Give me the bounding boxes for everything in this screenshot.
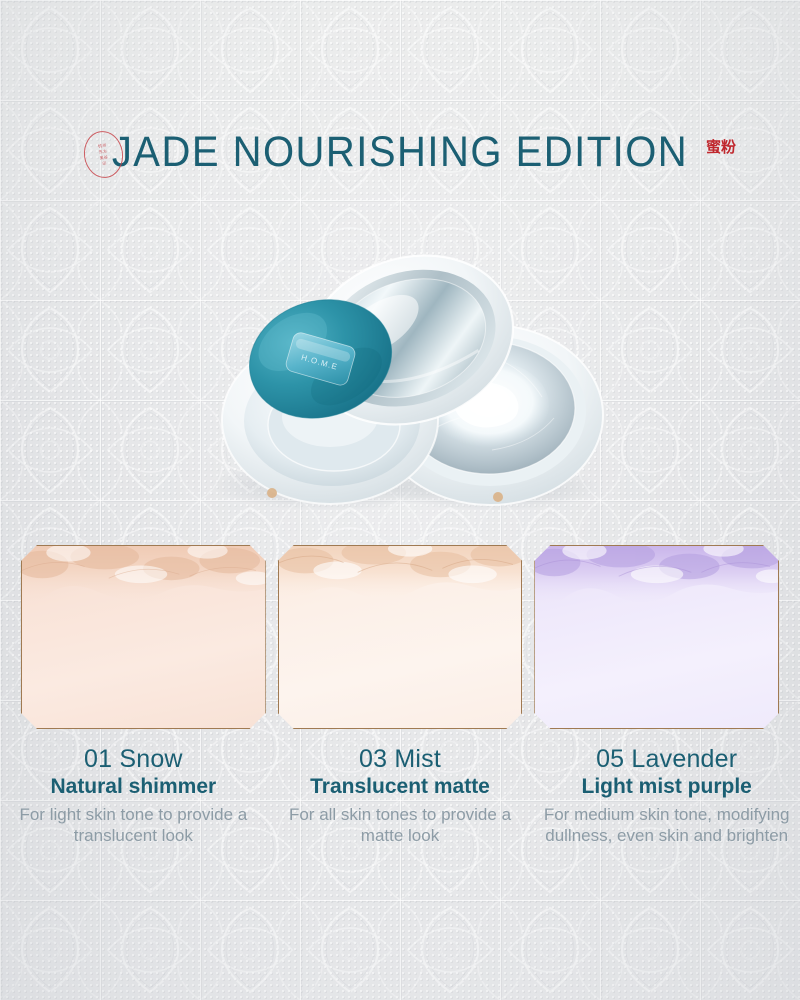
shade-subtitle-01: Natural shimmer (6, 774, 261, 800)
product-image: H.O.M.E (180, 235, 620, 525)
shade-description-03: For all skin tones to provide a matte lo… (273, 804, 528, 846)
swatch-05-lavender[interactable] (534, 545, 779, 729)
shade-caption-03: 03 Mist Translucent matte For all skin t… (267, 744, 534, 846)
shade-subtitle-05: Light mist purple (539, 774, 794, 800)
shade-caption-05: 05 Lavender Light mist purple For medium… (533, 744, 800, 846)
swatch-powder-texture-01 (21, 545, 266, 633)
shade-name-03: 03 Mist (273, 744, 528, 774)
shade-subtitle-03: Translucent matte (273, 774, 528, 800)
swatch-01-snow[interactable] (21, 545, 266, 729)
chinese-product-mark: 蜜粉 (706, 140, 736, 155)
swatch-powder-texture-03 (278, 545, 523, 633)
shade-caption-01: 01 Snow Natural shimmer For light skin t… (0, 744, 267, 846)
shade-name-05: 05 Lavender (539, 744, 794, 774)
swatch-powder-texture-05 (534, 545, 779, 633)
product-detail-page: JADE NOURISHING EDITION 杭州 东方 美谷 印 蜜粉 (0, 0, 800, 1000)
shade-name-01: 01 Snow (6, 744, 261, 774)
shade-swatch-row (21, 545, 779, 729)
seal-line-3: 美谷 (99, 154, 108, 161)
swatch-03-mist[interactable] (278, 545, 523, 729)
shade-caption-row: 01 Snow Natural shimmer For light skin t… (0, 744, 800, 846)
seal-line-4: 印 (102, 160, 107, 166)
shade-description-05: For medium skin tone, modifying dullness… (539, 804, 794, 846)
page-title: JADE NOURISHING EDITION (28, 128, 772, 177)
shade-description-01: For light skin tone to provide a translu… (6, 804, 261, 846)
